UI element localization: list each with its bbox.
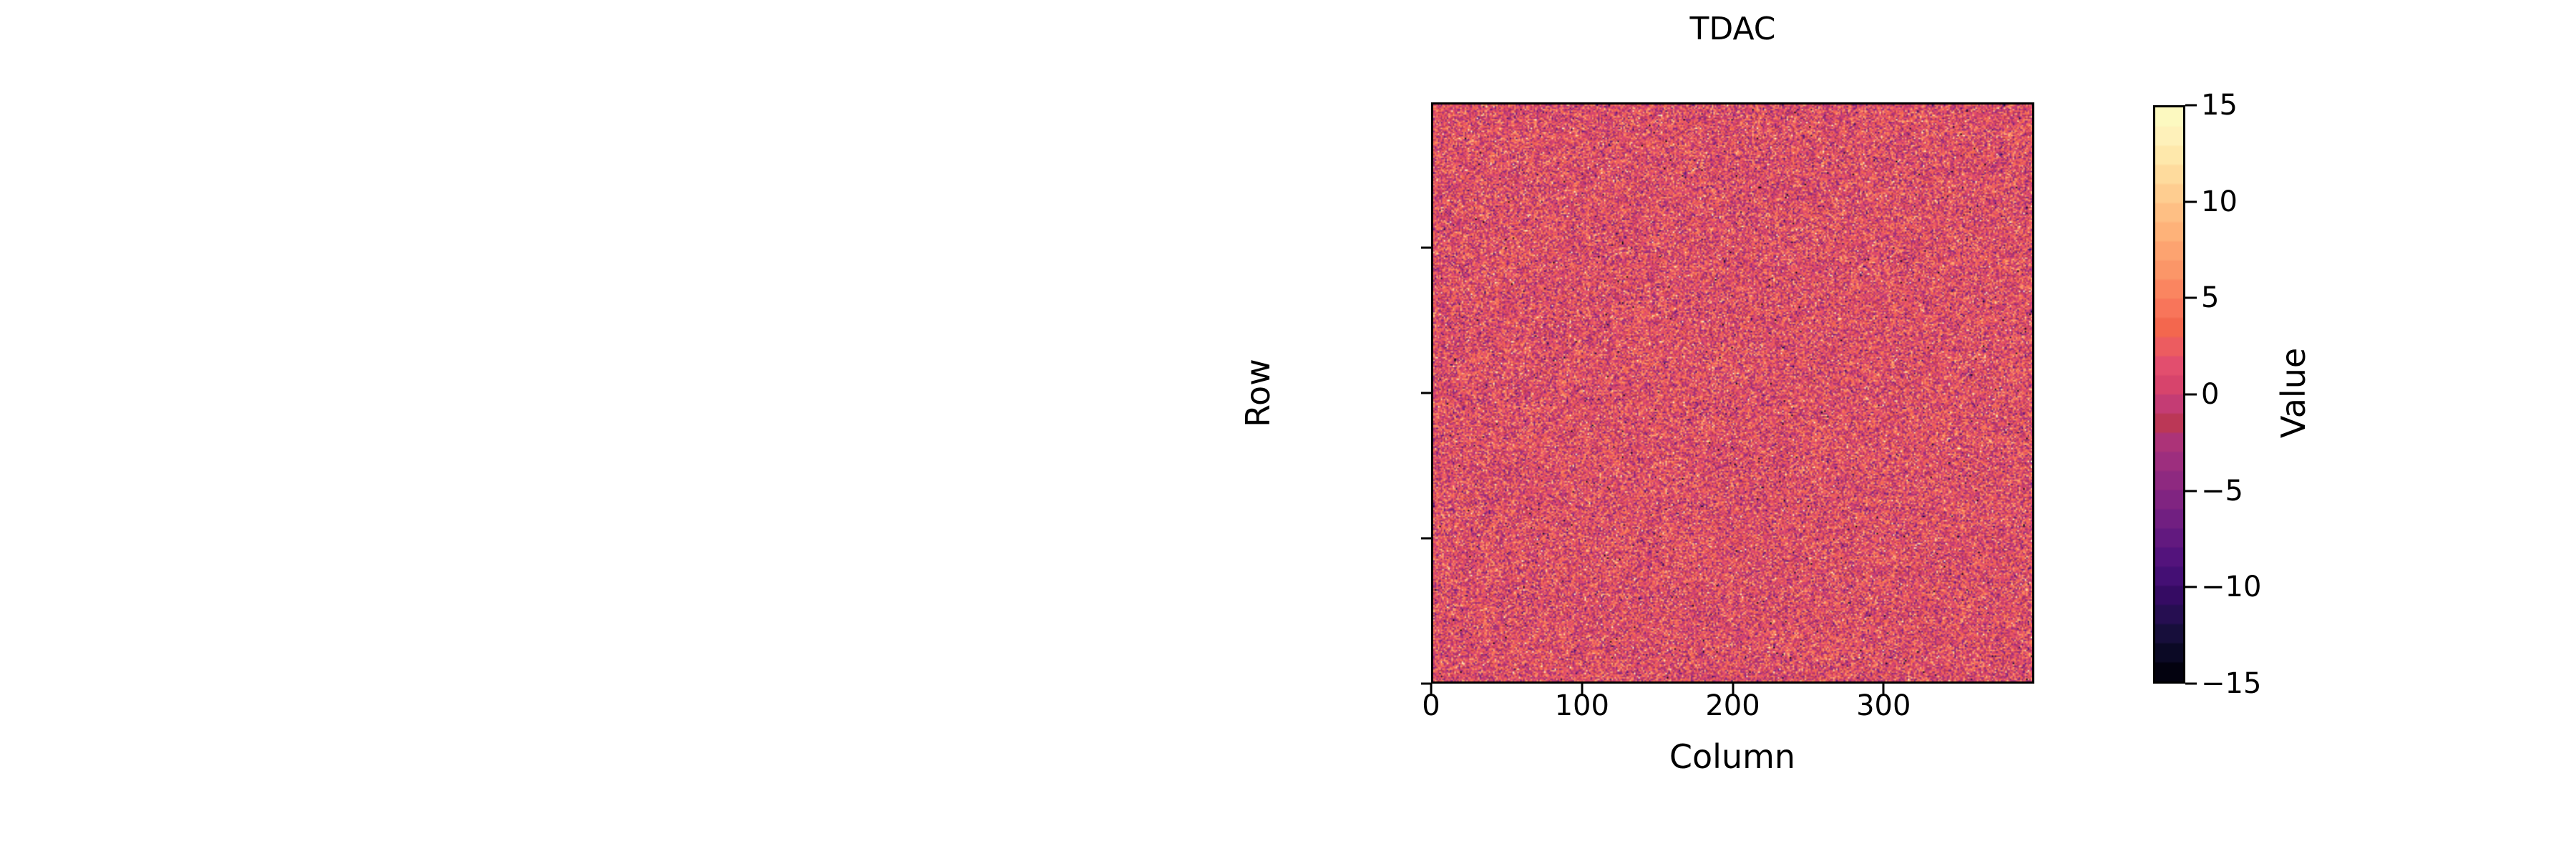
x-tick-label: 200 bbox=[1705, 689, 1760, 722]
colorbar-tick-label: 0 bbox=[2201, 378, 2219, 411]
colorbar-tick-mark bbox=[2185, 394, 2197, 396]
heatmap-axes bbox=[1431, 102, 2034, 684]
x-axis-label: Column bbox=[1669, 737, 1795, 776]
colorbar-tick-mark bbox=[2185, 200, 2197, 203]
colorbar-tick-label: −15 bbox=[2201, 667, 2261, 700]
heatmap-image bbox=[1433, 105, 2032, 681]
matplotlib-figure: TDAC 0100200300 Row 0100200300 Column −1… bbox=[0, 0, 2576, 859]
x-tick-label: 300 bbox=[1856, 689, 1911, 722]
colorbar-tick-label: 15 bbox=[2201, 89, 2238, 122]
page-title: TDAC bbox=[1431, 13, 2034, 46]
colorbar bbox=[2153, 105, 2185, 684]
colorbar-tick-label: 5 bbox=[2201, 281, 2219, 314]
colorbar-tick-mark bbox=[2185, 297, 2197, 299]
colorbar-gradient bbox=[2155, 107, 2183, 681]
colorbar-tick-mark bbox=[2185, 683, 2197, 685]
colorbar-label: Value bbox=[2274, 348, 2313, 438]
y-tick-mark bbox=[1421, 247, 1431, 249]
colorbar-tick-mark bbox=[2185, 586, 2197, 588]
colorbar-tick-mark bbox=[2185, 490, 2197, 492]
colorbar-tick-mark bbox=[2185, 105, 2197, 107]
x-tick-label: 100 bbox=[1555, 689, 1609, 722]
colorbar-tick-label: 10 bbox=[2201, 185, 2238, 218]
y-axis-label: Row bbox=[1239, 359, 1277, 427]
colorbar-tick-label: −10 bbox=[2201, 571, 2261, 603]
y-tick-mark bbox=[1421, 538, 1431, 540]
y-tick-mark bbox=[1421, 392, 1431, 394]
x-tick-label: 0 bbox=[1422, 689, 1440, 722]
colorbar-tick-label: −5 bbox=[2201, 475, 2243, 508]
